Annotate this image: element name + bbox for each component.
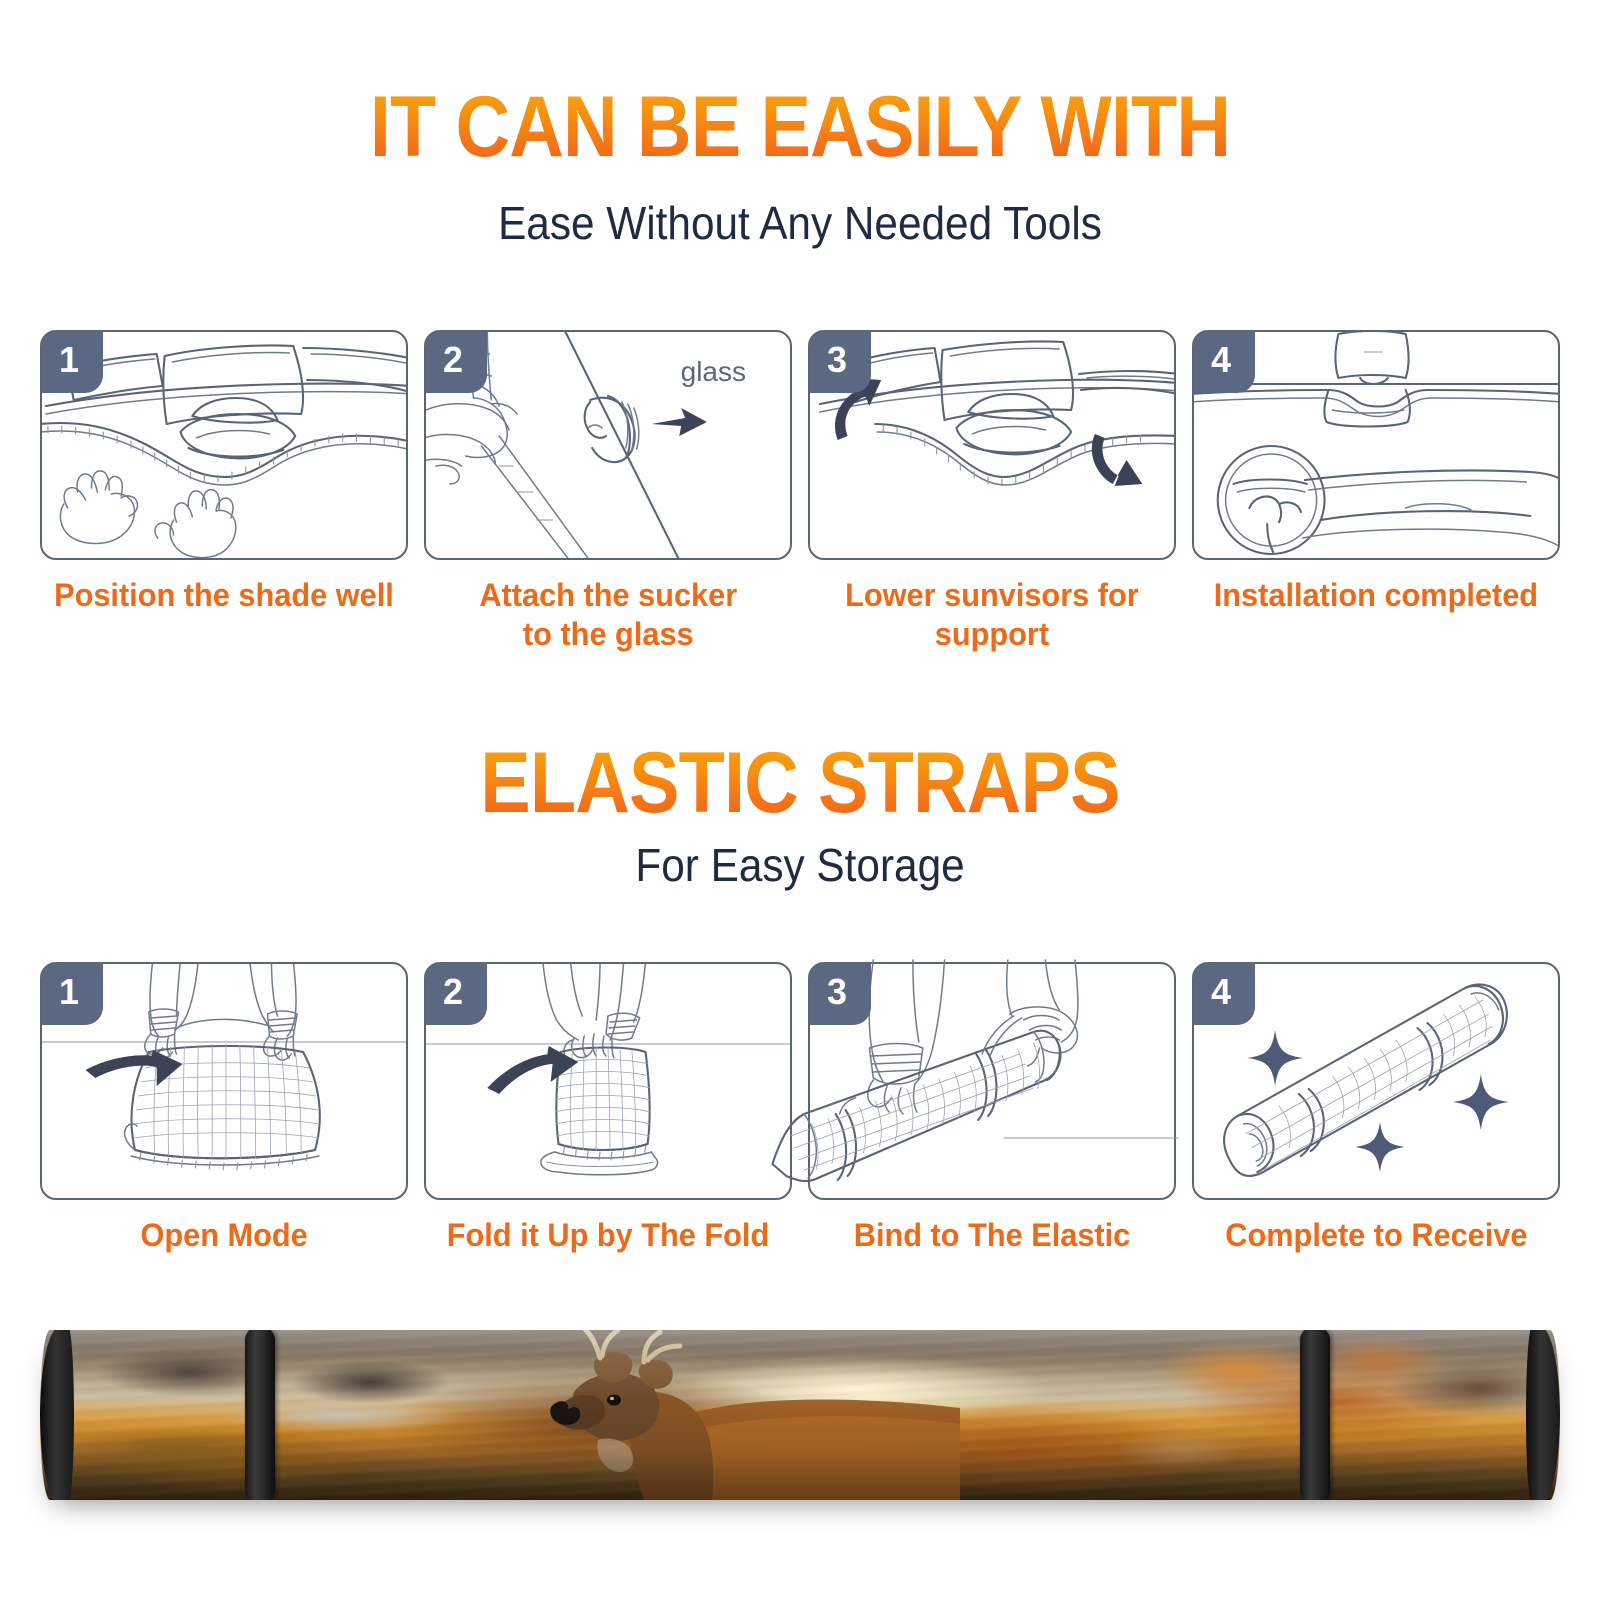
elastic-strap-left [245,1330,275,1500]
installation-subtitle: Ease Without Any Needed Tools [64,196,1536,250]
storage-subheading-block: For Easy Storage [0,838,1600,892]
storage-steps-row: 1 [0,962,1600,1255]
storage-step-4-caption: Complete to Receive [1225,1216,1527,1255]
product-photo-section [0,1330,1600,1500]
install-step-1-caption: Position the shade well [54,576,394,615]
install-step-4-caption: Installation completed [1214,576,1538,615]
storage-heading-block: ELASTIC STRAPS [0,740,1600,826]
install-step-2-badge: 2 [425,331,487,393]
install-step-2: 2 [424,330,792,654]
install-step-4-panel: 4 [1192,330,1560,560]
storage-step-1-panel: 1 [40,962,408,1200]
install-step-1-badge: 1 [41,331,103,393]
install-step-4: 4 [1192,330,1560,654]
storage-step-4-panel: 4 [1192,962,1560,1200]
install-step-3-panel: 3 [808,330,1176,560]
install-step-3-badge: 3 [809,331,871,393]
install-step-4-badge: 4 [1193,331,1255,393]
storage-step-1-badge: 1 [41,963,103,1025]
installation-steps-row: 1 [0,330,1600,654]
install-step-3: 3 [808,330,1176,654]
storage-step-2-panel: 2 [424,962,792,1200]
storage-step-1-caption: Open Mode [140,1216,307,1255]
rolled-sunshade-product [40,1330,1560,1500]
installation-heading-block: IT CAN BE EASILY WITH [0,84,1600,170]
installation-title: IT CAN BE EASILY WITH [96,84,1504,170]
storage-subtitle: For Easy Storage [64,838,1536,892]
installation-subheading-block: Ease Without Any Needed Tools [0,196,1600,250]
install-step-1: 1 [40,330,408,654]
storage-step-3-panel: 3 [808,962,1176,1200]
storage-step-3-badge: 3 [809,963,871,1025]
install-step-1-panel: 1 [40,330,408,560]
storage-step-3-caption: Bind to The Elastic [854,1216,1131,1255]
storage-step-2: 2 [424,962,792,1255]
glass-annotation-label: glass [681,356,746,388]
storage-step-2-caption: Fold it Up by The Fold [447,1216,770,1255]
roll-end-cap-left [40,1330,74,1500]
install-step-2-caption: Attach the sucker to the glass [479,576,737,654]
storage-step-1: 1 [40,962,408,1255]
elastic-strap-right [1300,1330,1330,1500]
storage-title: ELASTIC STRAPS [96,740,1504,826]
install-step-2-panel: 2 [424,330,792,560]
storage-step-3: 3 [808,962,1176,1255]
storage-step-2-badge: 2 [425,963,487,1025]
storage-step-4-badge: 4 [1193,963,1255,1025]
install-step-3-caption: Lower sunvisors for support [845,576,1139,654]
storage-step-4: 4 [1192,962,1560,1255]
